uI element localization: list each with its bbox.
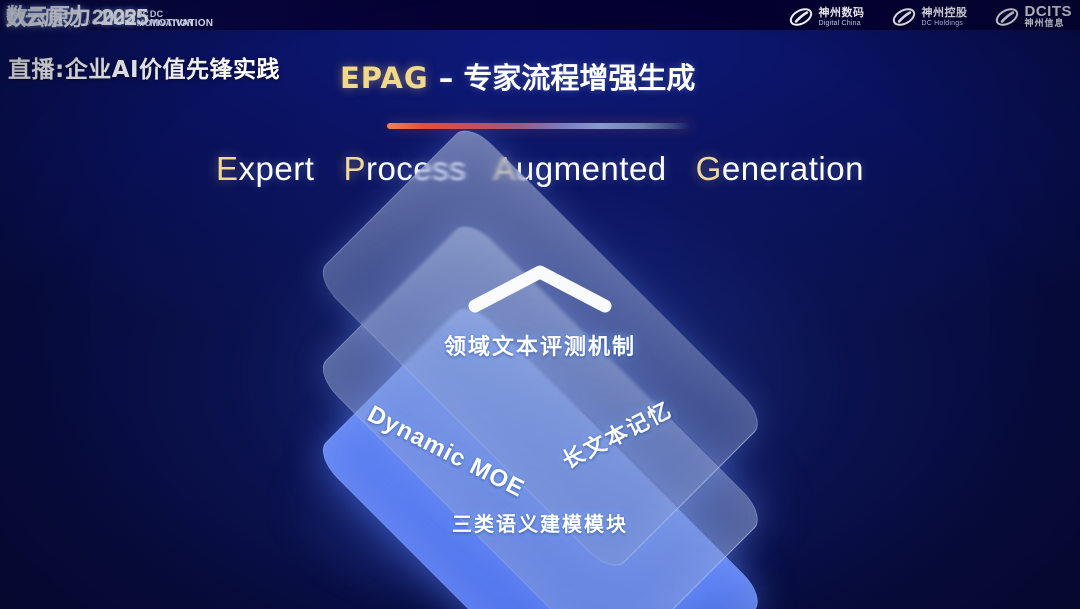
slide-canvas: 数云原力 ® 2025 DC MOTIVATION 直播:企业AI价值先锋实践 … bbox=[0, 0, 1080, 609]
watermark-motivation-label: MOTIVATION bbox=[137, 19, 194, 28]
chevron-up-icon bbox=[465, 260, 615, 316]
layer-label-bottom: 三类语义建模模块 bbox=[0, 508, 1080, 537]
layer-label-top: 领域文本评测机制 bbox=[0, 329, 1080, 361]
gradient-divider bbox=[387, 123, 692, 129]
page-title: EPAG – 专家流程增强生成 bbox=[340, 55, 760, 97]
watermark-year: 2025 bbox=[92, 6, 135, 29]
subtitle-word-generation: Generation bbox=[696, 150, 864, 187]
watermark-name-cn: 数云原力 bbox=[6, 7, 82, 29]
subtitle-word-rest: ugmented bbox=[516, 150, 667, 187]
subtitle-word-rest: eneration bbox=[722, 150, 864, 187]
subtitle-space bbox=[324, 150, 334, 187]
title-rest: – 专家流程增强生成 bbox=[429, 61, 696, 95]
watermark-logo: 数云原力 ® 2025 DC MOTIVATION bbox=[6, 1, 1070, 29]
subtitle-expansion: Expert Process Augmented Generation bbox=[0, 150, 1080, 188]
live-session-label: 直播:企业AI价值先锋实践 bbox=[8, 50, 280, 84]
subtitle-word-rest: xpert bbox=[239, 150, 315, 187]
layered-architecture-diagram: 领域文本评测机制 Dynamic MOE 长文本记忆 三类语义建模模块 bbox=[0, 215, 1080, 575]
watermark-registered-icon: ® bbox=[84, 16, 90, 29]
title-acronym: EPAG bbox=[340, 61, 429, 95]
subtitle-word-expert: Expert bbox=[216, 150, 314, 187]
subtitle-initial: P bbox=[343, 150, 366, 187]
subtitle-initial: E bbox=[216, 150, 239, 187]
subtitle-initial: G bbox=[696, 150, 722, 187]
subtitle-space bbox=[676, 150, 686, 187]
watermark-dc-motivation: DC MOTIVATION bbox=[137, 10, 194, 29]
